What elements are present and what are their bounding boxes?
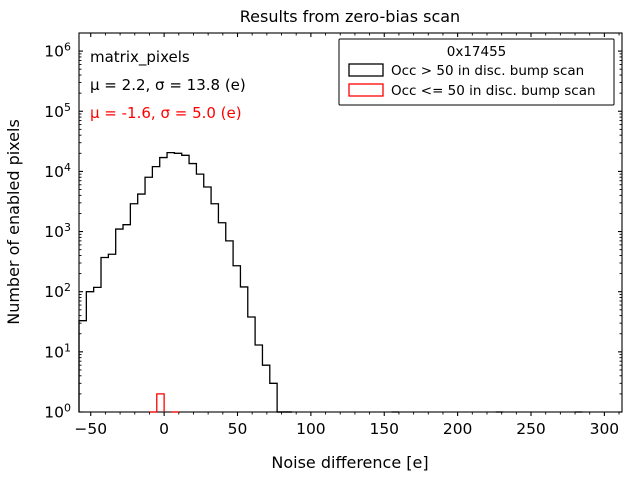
y-axis-tick-labels: 100101102103104105106 [44,40,71,421]
x-tick-label-200: 200 [443,420,473,438]
histogram-series-layer [79,153,582,412]
legend-label-0: Occ > 50 in disc. bump scan [391,63,584,79]
x-tick-label-0: 0 [159,420,169,438]
chart-title: Results from zero-bias scan [240,7,460,26]
histogram-series-occ-le-50-bin-1 [157,394,164,412]
chart-legend: 0x17455Occ > 50 in disc. bump scanOcc <=… [339,39,614,105]
x-tick-label-50: 50 [228,420,248,438]
chart-annotation-1: μ = 2.2, σ = 13.8 (e) [90,76,246,94]
x-axis-tick-labels: −50050100150200250300 [74,420,619,438]
x-tick-label--50: −50 [74,420,107,438]
chart-annotation-2: μ = -1.6, σ = 5.0 (e) [90,104,242,122]
chart-svg: Results from zero-bias scan −50050100150… [0,0,640,480]
y-tick-label-6: 106 [44,40,71,61]
y-tick-label-4: 104 [44,160,71,181]
figure-title-group: Results from zero-bias scan [240,7,460,26]
y-tick-label-2: 102 [44,281,71,302]
annotation-layer: matrix_pixelsμ = 2.2, σ = 13.8 (e)μ = -1… [90,48,246,122]
y-tick-label-5: 105 [44,100,71,121]
x-tick-label-250: 250 [516,420,546,438]
x-axis-title: Noise difference [e] [271,453,428,472]
x-tick-label-100: 100 [296,420,326,438]
y-tick-label-0: 100 [44,401,71,422]
chart-annotation-0: matrix_pixels [90,48,190,67]
legend-title: 0x17455 [447,44,507,60]
histogram-series-occ-gt-50 [79,153,292,412]
legend-label-1: Occ <= 50 in disc. bump scan [391,83,596,99]
x-tick-label-300: 300 [590,420,620,438]
x-tick-label-150: 150 [369,420,399,438]
y-tick-label-1: 101 [44,341,71,362]
figure-canvas: Results from zero-bias scan −50050100150… [0,0,640,480]
y-tick-label-3: 103 [44,221,71,242]
y-axis-title: Number of enabled pixels [4,119,23,325]
